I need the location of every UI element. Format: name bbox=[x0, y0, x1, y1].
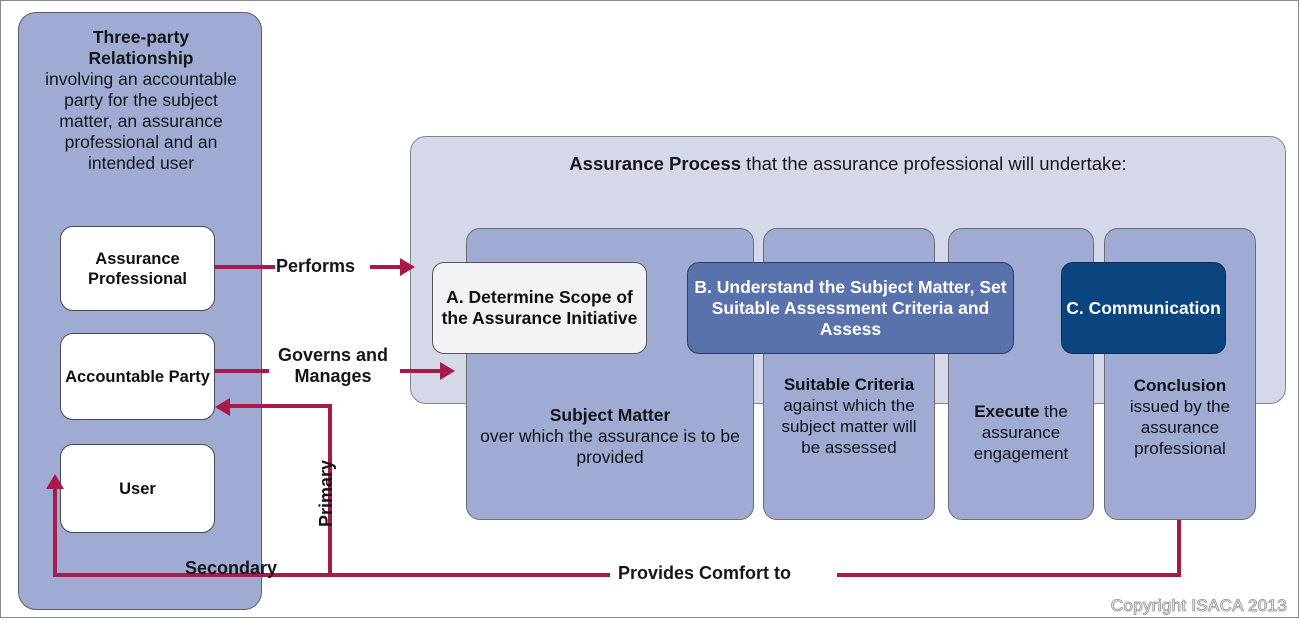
party-label-assurance-professional: Assurance Professional bbox=[61, 249, 214, 289]
process-column-text-suitable-criteria: Suitable Criteria against which the subj… bbox=[770, 374, 928, 458]
connector-label-secondary: Secondary bbox=[185, 558, 277, 579]
three-party-relationship-title: Three-party Relationship bbox=[41, 27, 241, 69]
party-label-user: User bbox=[119, 479, 156, 499]
connector-secondary-arrowhead bbox=[46, 474, 64, 489]
suitable-criteria-rest: against which the subject matter will be… bbox=[781, 396, 916, 457]
party-box-accountable-party[interactable]: Accountable Party bbox=[60, 333, 215, 420]
party-box-assurance-professional[interactable]: Assurance Professional bbox=[60, 226, 215, 311]
diagram-canvas: Three-party Relationship involving an ac… bbox=[0, 0, 1301, 620]
connector-label-primary: Primary bbox=[316, 460, 337, 527]
connector-label-performs: Performs bbox=[276, 256, 355, 277]
process-column-text-execute: Execute the assurance engagement bbox=[955, 401, 1087, 464]
connector-primary-arrowhead bbox=[215, 398, 230, 416]
process-column-text-subject-matter: Subject Matter over which the assurance … bbox=[473, 405, 747, 468]
connector-primary-horizontal bbox=[230, 404, 330, 408]
party-box-user[interactable]: User bbox=[60, 444, 215, 533]
assurance-process-title-rest: that the assurance professional will und… bbox=[741, 153, 1127, 174]
suitable-criteria-bold: Suitable Criteria bbox=[784, 375, 914, 394]
connector-secondary-bottom-line-b bbox=[837, 573, 1181, 577]
stage-label-b: B. Understand the Subject Matter, Set Su… bbox=[688, 277, 1013, 340]
process-column-text-conclusion: Conclusion issued by the assurance profe… bbox=[1111, 375, 1249, 459]
connector-performs-arrowhead bbox=[400, 258, 415, 276]
subject-matter-bold: Subject Matter bbox=[550, 405, 671, 425]
stage-label-a: A. Determine Scope of the Assurance Init… bbox=[433, 287, 646, 329]
connector-comfort-vertical-right bbox=[1177, 520, 1181, 576]
stage-box-b-understand-subject-matter[interactable]: B. Understand the Subject Matter, Set Su… bbox=[687, 262, 1014, 354]
copyright-notice: Copyright ISACA 2013 bbox=[1111, 596, 1287, 616]
stage-box-c-communication[interactable]: C. Communication bbox=[1061, 262, 1226, 354]
stage-label-c: C. Communication bbox=[1066, 298, 1221, 319]
connector-secondary-vertical-left bbox=[53, 488, 57, 577]
three-party-relationship-heading: Three-party Relationship involving an ac… bbox=[41, 27, 241, 174]
conclusion-rest: issued by the assurance professional bbox=[1130, 397, 1230, 458]
connector-performs-line-right bbox=[370, 265, 402, 269]
party-label-accountable-party: Accountable Party bbox=[65, 367, 210, 387]
connector-secondary-bottom-line-a bbox=[53, 573, 610, 577]
three-party-relationship-description: involving an accountable party for the s… bbox=[41, 69, 241, 174]
connector-label-provides-comfort-to: Provides Comfort to bbox=[618, 563, 791, 584]
connector-label-governs-and-manages: Governs and Manages bbox=[269, 345, 397, 387]
connector-governs-line-left bbox=[215, 369, 270, 373]
stage-box-a-determine-scope[interactable]: A. Determine Scope of the Assurance Init… bbox=[432, 262, 647, 354]
conclusion-bold: Conclusion bbox=[1134, 376, 1227, 395]
execute-bold: Execute bbox=[974, 402, 1039, 421]
connector-governs-line-right bbox=[400, 369, 442, 373]
assurance-process-title-bold: Assurance Process bbox=[569, 153, 741, 174]
subject-matter-rest: over which the assurance is to be provid… bbox=[480, 426, 740, 467]
assurance-process-title: Assurance Process that the assurance pro… bbox=[411, 153, 1285, 175]
connector-governs-arrowhead bbox=[440, 362, 455, 380]
connector-performs-line-left bbox=[215, 265, 275, 269]
